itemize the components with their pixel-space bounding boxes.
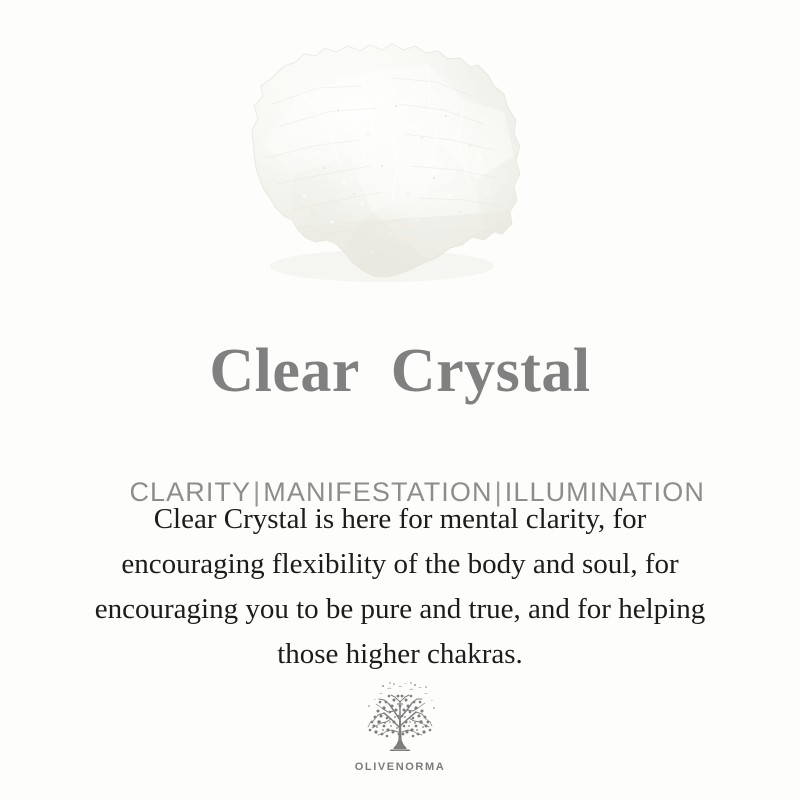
description-line: encouraging flexibility of the body and … [40,542,760,587]
description-line: encouraging you to be pure and true, and… [40,587,760,632]
description-line: Clear Crystal is here for mental clarity… [40,497,760,542]
hero-image-region [0,0,800,310]
description-text: Clear Crystal is here for mental clarity… [40,497,760,677]
page-title: Clear Crystal [0,336,800,406]
brand-name: OLIVENORMA [0,761,800,773]
product-info-card: Clear Crystal CLARITY|MANIFESTATION|ILLU… [0,0,800,800]
brand-logo: OLIVENORMA [0,682,800,773]
description-line: those higher chakras. [40,632,760,677]
olive-tree-icon [354,682,446,760]
clear-crystal-image [232,34,532,294]
